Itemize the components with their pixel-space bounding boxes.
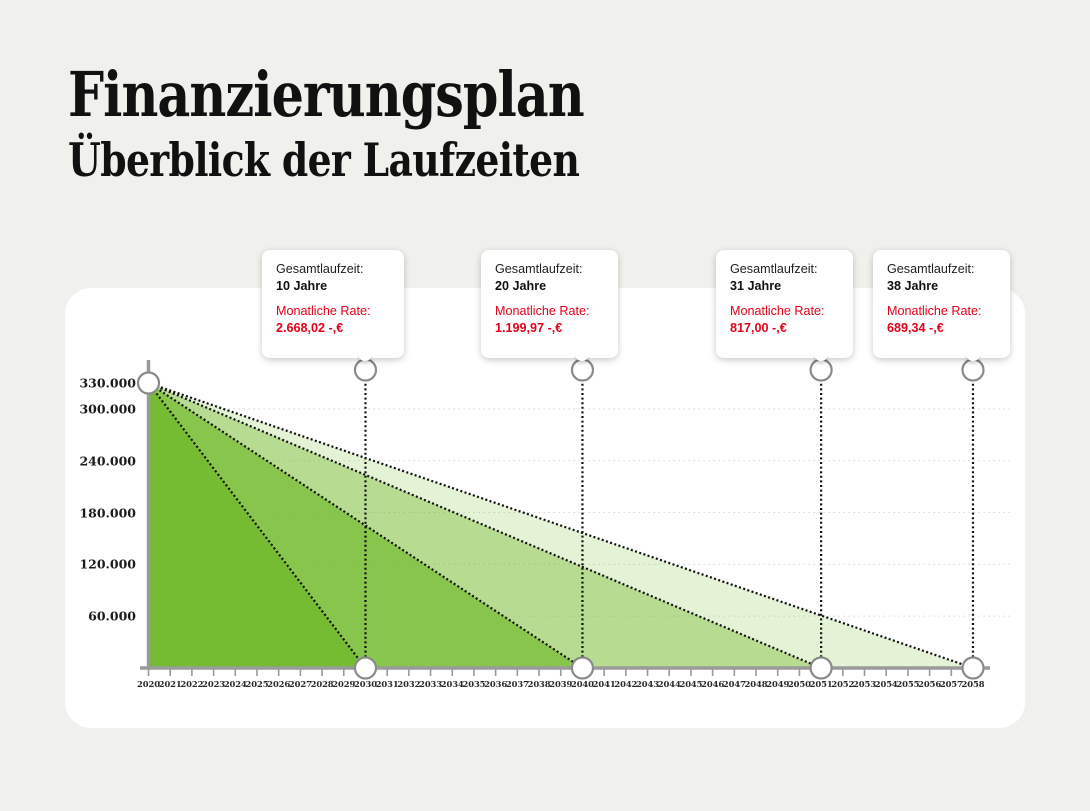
x-axis-tick-label: 2039 (549, 679, 572, 689)
x-axis-tick-label: 2027 (289, 679, 312, 689)
y-axis-tick-label: 60.000 (88, 609, 136, 624)
tooltip-term-value: 10 Jahre (276, 278, 390, 295)
tooltip-rate-label: Monatliche Rate: (887, 303, 996, 320)
x-axis-labels: 2020202120222023202420252026202720282029… (0, 679, 1090, 699)
tooltip-term-value: 20 Jahre (495, 278, 604, 295)
x-axis-tick-label: 2038 (528, 679, 551, 689)
tooltip-term-label: Gesamtlaufzeit: (495, 261, 604, 278)
tooltip-rate-label: Monatliche Rate: (276, 303, 390, 320)
y-axis-tick-label: 240.000 (79, 453, 136, 468)
x-axis-tick-label: 2029 (332, 679, 355, 689)
x-axis-tick-label: 2055 (896, 679, 919, 689)
x-axis-tick-label: 2047 (723, 679, 746, 689)
x-axis-tick-label: 2025 (246, 679, 269, 689)
x-axis-tick-label: 2057 (940, 679, 963, 689)
tooltip-term-label: Gesamtlaufzeit: (730, 261, 839, 278)
x-axis-tick-label: 2053 (853, 679, 876, 689)
x-axis-tick-label: 2052 (831, 679, 854, 689)
tooltip-rate-label: Monatliche Rate: (730, 303, 839, 320)
x-axis-tick-label: 2036 (484, 679, 507, 689)
x-axis-tick-label: 2032 (397, 679, 420, 689)
y-axis-tick-label: 180.000 (79, 505, 136, 520)
x-axis-tick-label: 2049 (766, 679, 789, 689)
tooltip-notch-icon (357, 356, 373, 365)
x-axis-tick-label: 2031 (376, 679, 399, 689)
tooltip-term-label: Gesamtlaufzeit: (276, 261, 390, 278)
x-axis-tick-label: 2041 (593, 679, 616, 689)
x-axis-tick-label: 2026 (267, 679, 290, 689)
tooltip-rate-value: 1.199,97 -,€ (495, 320, 604, 337)
x-axis-tick-label: 2035 (462, 679, 485, 689)
heading-block: Finanzierungsplan Überblick der Laufzeit… (68, 62, 928, 186)
x-axis-tick-label: 2056 (918, 679, 941, 689)
tooltip-term-38[interactable]: Gesamtlaufzeit: 38 Jahre Monatliche Rate… (873, 250, 1010, 358)
tooltip-term-10[interactable]: Gesamtlaufzeit: 10 Jahre Monatliche Rate… (262, 250, 404, 358)
y-axis-tick-label: 120.000 (79, 557, 136, 572)
x-axis-tick-label: 2045 (679, 679, 702, 689)
x-axis-tick-label: 2037 (506, 679, 529, 689)
x-axis-tick-label: 2021 (159, 679, 182, 689)
tooltip-term-value: 31 Jahre (730, 278, 839, 295)
tooltip-rate-value: 817,00 -,€ (730, 320, 839, 337)
x-axis-tick-label: 2024 (224, 679, 247, 689)
x-axis-tick-label: 2034 (441, 679, 464, 689)
tooltip-notch-icon (813, 356, 829, 365)
x-axis-tick-label: 2058 (962, 679, 985, 689)
tooltip-term-20[interactable]: Gesamtlaufzeit: 20 Jahre Monatliche Rate… (481, 250, 618, 358)
tooltip-rate-value: 2.668,02 -,€ (276, 320, 390, 337)
x-axis-tick-label: 2023 (202, 679, 225, 689)
x-axis-tick-label: 2042 (614, 679, 637, 689)
x-axis-tick-label: 2040 (571, 679, 594, 689)
tooltip-rate-value: 689,34 -,€ (887, 320, 996, 337)
y-axis-tick-label: 300.000 (79, 401, 136, 416)
x-axis-tick-label: 2022 (180, 679, 203, 689)
x-axis-tick-label: 2051 (810, 679, 833, 689)
tooltip-term-value: 38 Jahre (887, 278, 996, 295)
page-subtitle: Überblick der Laufzeiten (68, 134, 773, 186)
x-axis-tick-label: 2033 (419, 679, 442, 689)
page-title: Finanzierungsplan (68, 62, 773, 128)
x-axis-tick-label: 2028 (311, 679, 334, 689)
x-axis-tick-label: 2048 (745, 679, 768, 689)
tooltip-notch-icon (965, 356, 981, 365)
x-axis-tick-label: 2044 (658, 679, 681, 689)
x-axis-tick-label: 2043 (636, 679, 659, 689)
x-axis-tick-label: 2050 (788, 679, 811, 689)
y-axis-tick-label: 330.000 (79, 376, 136, 391)
x-axis-tick-label: 2030 (354, 679, 377, 689)
tooltip-notch-icon (574, 356, 590, 365)
tooltip-term-label: Gesamtlaufzeit: (887, 261, 996, 278)
x-axis-tick-label: 2020 (137, 679, 160, 689)
x-axis-tick-label: 2046 (701, 679, 724, 689)
tooltip-rate-label: Monatliche Rate: (495, 303, 604, 320)
tooltip-term-31[interactable]: Gesamtlaufzeit: 31 Jahre Monatliche Rate… (716, 250, 853, 358)
x-axis-tick-label: 2054 (875, 679, 898, 689)
